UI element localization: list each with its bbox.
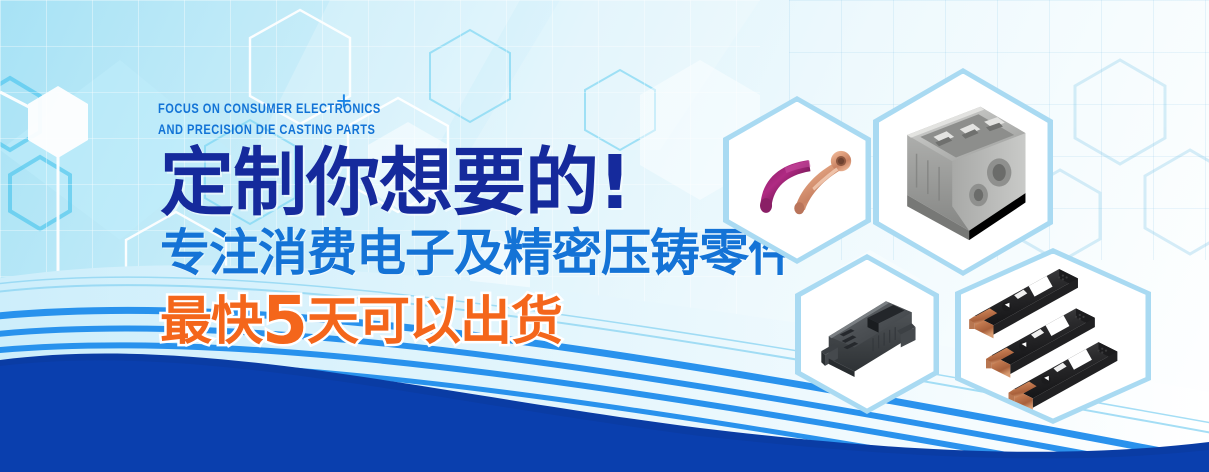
copper-black-lock-housings-image — [961, 254, 1146, 419]
anodized-handle-parts-image — [729, 102, 866, 259]
promo-number: 5 — [262, 282, 307, 359]
page-title: 定制你想要的! — [160, 146, 631, 220]
product-hex-enclosure — [795, 254, 939, 414]
product-hex-smart-lock-panels — [955, 248, 1151, 424]
plus-icon: + — [336, 88, 352, 115]
product-hex-handles — [723, 96, 871, 264]
english-tagline-line2: AND PRECISION DIE CASTING PARTS — [158, 122, 375, 137]
promo-banner: FOCUS ON CONSUMER ELECTRONICS AND PRECIS… — [0, 0, 1209, 472]
promo-prefix: 最快 — [160, 292, 262, 352]
promo-line: 最快5天可以出货 — [160, 288, 562, 354]
headline-text-block: FOCUS ON CONSUMER ELECTRONICS AND PRECIS… — [0, 0, 700, 472]
subheadline: 专注消费电子及精密压铸零件 — [160, 228, 797, 278]
promo-suffix: 天可以出货 — [307, 292, 562, 352]
aluminum-engine-block-image — [879, 74, 1048, 271]
die-cast-enclosure-image — [801, 260, 934, 409]
product-hex-engine-block — [873, 68, 1053, 276]
